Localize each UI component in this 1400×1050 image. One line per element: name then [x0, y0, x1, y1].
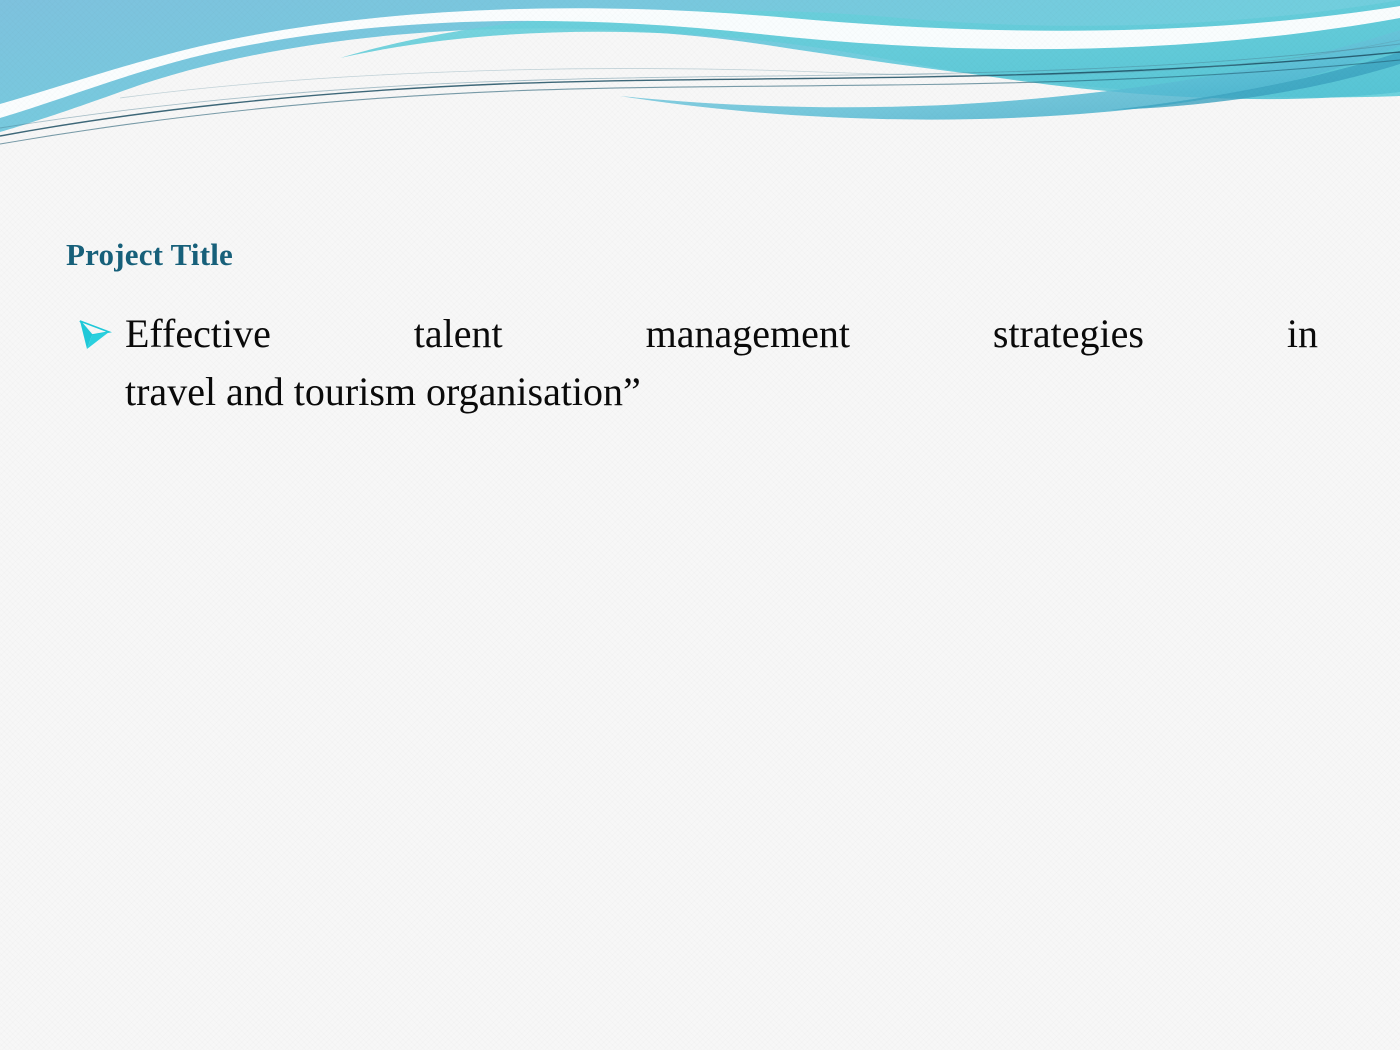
arrowhead-bullet-icon [78, 319, 114, 351]
list-item: Effective talent management strategies i… [78, 305, 1318, 421]
bullet-list: Effective talent management strategies i… [78, 305, 1318, 421]
bullet-text: Effective talent management strategies i… [125, 305, 1318, 421]
slide: Project Title Effective talent managemen… [0, 0, 1400, 1050]
slide-content: Project Title Effective talent managemen… [0, 0, 1400, 1050]
bullet-text-line-1: Effective talent management strategies i… [125, 305, 1318, 363]
section-title: Project Title [66, 236, 233, 274]
bullet-text-line-2: travel and tourism organisation” [125, 363, 1318, 421]
